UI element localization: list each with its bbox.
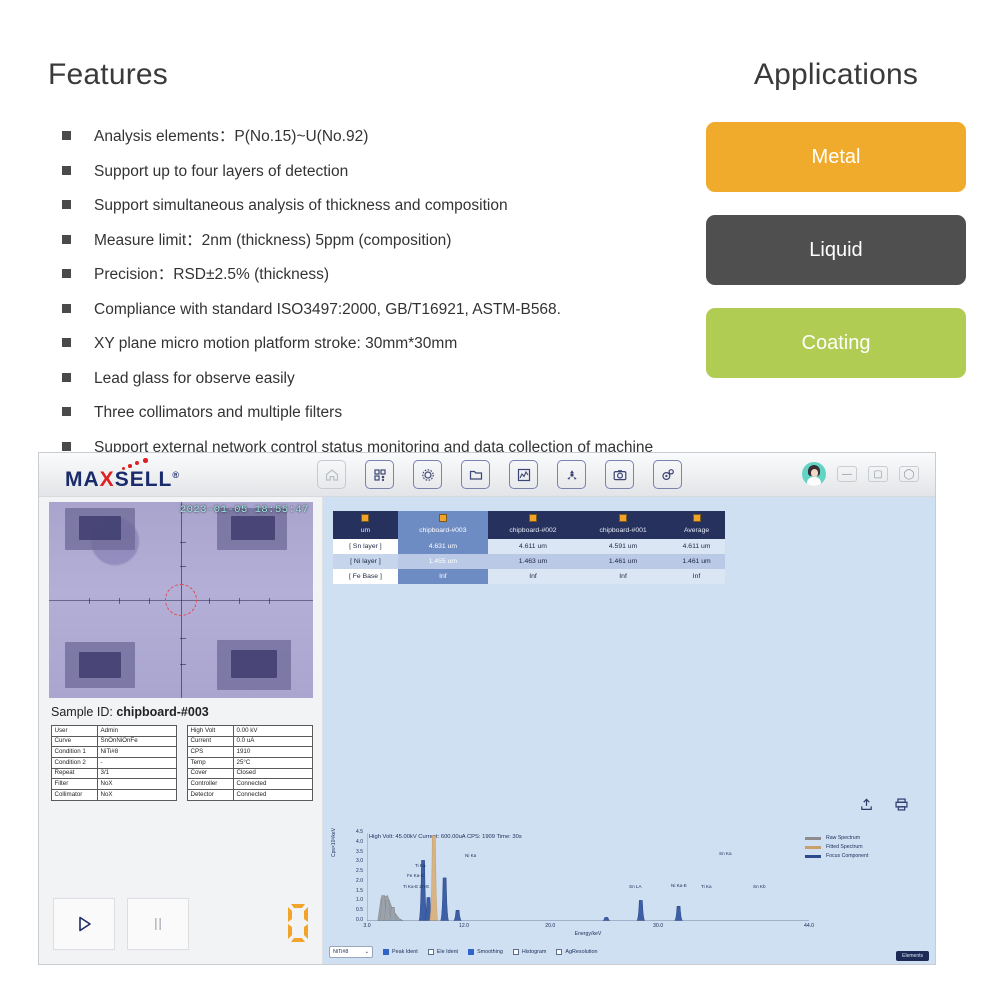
- bullet-icon: [62, 269, 71, 278]
- folder-icon[interactable]: [461, 460, 490, 489]
- legend-swatch: [805, 855, 821, 858]
- y-tick: 0.5: [356, 907, 363, 913]
- legend-swatch: [805, 837, 821, 840]
- home-icon[interactable]: [317, 460, 346, 489]
- cell: Inf: [488, 569, 578, 584]
- features-list: Analysis elements：P(No.15)~U(No.92) Supp…: [48, 126, 688, 459]
- feature-item: Measure limit：2nm (thickness) 5ppm (comp…: [48, 230, 688, 252]
- feature-item: Support up to four layers of detection: [48, 161, 688, 183]
- cell: 4.591 um: [578, 539, 668, 554]
- y-tick: 4.5: [356, 829, 363, 835]
- cell: Inf: [398, 569, 488, 584]
- sample-id-label: Sample ID:: [51, 705, 113, 719]
- x-tick: 44.0: [804, 923, 814, 929]
- table-row: Current0.0 uA: [188, 736, 313, 747]
- feature-text: Three collimators and multiple filters: [94, 404, 342, 421]
- cell: 4.611 um: [488, 539, 578, 554]
- feature-item: Compliance with standard ISO3497:2000, G…: [48, 299, 688, 321]
- peak-annotation: Ti Ka: [701, 884, 712, 889]
- spectrum-peak: [453, 910, 462, 921]
- checkbox-agresolution[interactable]: AgResolution: [556, 949, 597, 955]
- elements-button[interactable]: Elements: [896, 951, 929, 961]
- chart-icon[interactable]: [509, 460, 538, 489]
- table-header-row: um chipboard-#003 chipboard-#002 chipboa…: [333, 511, 725, 539]
- cycle-counter-display: [285, 902, 311, 944]
- table-row: UserAdmin: [52, 726, 177, 737]
- table-row: DetectorConnected: [188, 790, 313, 801]
- legend-item: Fitted Spectrum: [805, 844, 913, 850]
- app-toolbar: [317, 460, 682, 489]
- table-row: Temp25°C: [188, 758, 313, 769]
- checkbox-smoothing[interactable]: Smoothing: [468, 949, 503, 955]
- chart-y-ticks: 4.54.03.53.02.52.01.51.00.50.0: [341, 831, 363, 923]
- maxsell-logo: MAXSELL®: [65, 462, 180, 488]
- cell: 4.631 um: [398, 539, 488, 554]
- spectrum-peak: [440, 878, 449, 921]
- spectrum-peak: [429, 836, 438, 921]
- row-label: [ Ni layer ]: [333, 554, 398, 569]
- app-body: 2023-01-05 18:55:47 Sample ID: chipboard…: [39, 497, 935, 965]
- chevron-down-icon: ⌄: [364, 949, 369, 955]
- color-swatch-icon: [693, 514, 701, 522]
- chart-legend: Raw Spectrum Fitted Spectrum Focus Compo…: [805, 835, 913, 862]
- bullet-icon: [62, 442, 71, 451]
- x-tick: 12.0: [459, 923, 469, 929]
- application-tag-coating[interactable]: Coating: [706, 308, 966, 378]
- chart-xlabel: Energy/keV: [367, 931, 809, 937]
- close-button[interactable]: ◯: [899, 466, 919, 482]
- checkbox-histogram[interactable]: Histogram: [513, 949, 547, 955]
- bullet-icon: [62, 373, 71, 382]
- spectrum-peak: [636, 900, 645, 921]
- cell: Inf: [578, 569, 668, 584]
- chart-plot-area[interactable]: [367, 833, 809, 921]
- play-button[interactable]: [53, 898, 115, 950]
- row-label: [ Fe Base ]: [333, 569, 398, 584]
- features-title: Features: [48, 58, 688, 92]
- peak-annotation: Ti Ka: [415, 863, 426, 868]
- chart-options-bar: NiTi#8⌄ Peak Ident Ele Ident Smoothing H…: [329, 944, 929, 960]
- results-table-wrapper: um chipboard-#003 chipboard-#002 chipboa…: [333, 511, 725, 584]
- color-swatch-icon: [361, 514, 369, 522]
- feature-item: Precision：RSD±2.5% (thickness): [48, 264, 688, 286]
- peak-annotation: Sn LA: [629, 884, 642, 889]
- cell: 1.461 um: [668, 554, 725, 569]
- legend-item: Focus Component: [805, 853, 913, 859]
- peak-annotation: Ni Ka-E: [671, 883, 687, 888]
- feature-item: Support simultaneous analysis of thickne…: [48, 195, 688, 217]
- color-swatch-icon: [529, 514, 537, 522]
- y-tick: 2.5: [356, 868, 363, 874]
- y-tick: 3.0: [356, 858, 363, 864]
- parameter-tables: UserAdmin CurveSnOnNiOnFe Condition 1NiT…: [51, 725, 313, 801]
- cell: 1.455 um: [398, 554, 488, 569]
- y-tick: 4.0: [356, 839, 363, 845]
- table-row: FilterNoX: [52, 779, 177, 790]
- left-panel: 2023-01-05 18:55:47 Sample ID: chipboard…: [39, 497, 323, 965]
- legend-item: Raw Spectrum: [805, 835, 913, 841]
- x-tick: 20.0: [545, 923, 555, 929]
- software-screenshot-window: MAXSELL®: [38, 452, 936, 965]
- minimize-button[interactable]: —: [837, 466, 857, 482]
- bullet-icon: [62, 407, 71, 416]
- feature-text: Analysis elements：P(No.15)~U(No.92): [94, 128, 368, 145]
- camera-timestamp: 2023-01-05 18:55:47: [180, 504, 309, 516]
- sample-id-row: Sample ID: chipboard-#003: [51, 705, 209, 719]
- export-actions: [859, 797, 909, 817]
- sample-id-value: chipboard-#003: [116, 705, 208, 719]
- print-icon[interactable]: [894, 797, 909, 817]
- logo-dots-icon: [122, 458, 162, 472]
- cell: 1.463 um: [488, 554, 578, 569]
- feature-text: Support simultaneous analysis of thickne…: [94, 197, 508, 214]
- table-row: CPS1910: [188, 747, 313, 758]
- checkbox-ele-ident[interactable]: Ele Ident: [428, 949, 458, 955]
- feature-item: Lead glass for observe easily: [48, 368, 688, 390]
- y-tick: 1.0: [356, 897, 363, 903]
- feature-text: Compliance with standard ISO3497:2000, G…: [94, 301, 561, 318]
- table-row: Repeat3/1: [52, 768, 177, 779]
- spectrum-chart: High Volt: 45.00kV Current: 600.00uA CPS…: [329, 827, 929, 935]
- table-row: [ Sn layer ] 4.631 um 4.611 um 4.591 um …: [333, 539, 725, 554]
- camera-view[interactable]: 2023-01-05 18:55:47: [49, 502, 313, 698]
- color-swatch-icon: [619, 514, 627, 522]
- application-tag-liquid[interactable]: Liquid: [706, 215, 966, 285]
- peak-annotation: Sn Ka: [719, 851, 732, 856]
- condition-select[interactable]: NiTi#8⌄: [329, 946, 373, 958]
- feature-text: Precision：RSD±2.5% (thickness): [94, 266, 329, 283]
- results-col-sample-3[interactable]: chipboard-#001: [578, 511, 668, 539]
- bullet-icon: [62, 304, 71, 313]
- table-row: ControllerConnected: [188, 779, 313, 790]
- export-icon[interactable]: [859, 797, 874, 817]
- target-circle-icon: [165, 584, 197, 616]
- spectrum-svg: [367, 833, 809, 921]
- table-row: Condition 1NiTi#8: [52, 747, 177, 758]
- feature-text: Measure limit：2nm (thickness) 5ppm (comp…: [94, 232, 451, 249]
- y-tick: 3.5: [356, 849, 363, 855]
- camera-icon[interactable]: [605, 460, 634, 489]
- peak-annotation: Sn Kb: [753, 884, 766, 889]
- bullet-icon: [62, 338, 71, 347]
- config-icon[interactable]: [653, 460, 682, 489]
- bullet-icon: [62, 131, 71, 140]
- legend-swatch: [805, 846, 821, 849]
- table-row: [ Fe Base ] Inf Inf Inf Inf: [333, 569, 725, 584]
- feature-text: Lead glass for observe easily: [94, 370, 295, 387]
- table-row: Condition 2-: [52, 758, 177, 769]
- cell: 1.461 um: [578, 554, 668, 569]
- maximize-button[interactable]: ▢: [868, 466, 888, 482]
- feature-item: XY plane micro motion platform stroke: 3…: [48, 333, 688, 355]
- pause-button[interactable]: [127, 898, 189, 950]
- parameters-right-table: High Volt0.00 kV Current0.0 uA CPS1910 T…: [187, 725, 313, 801]
- table-row: CurveSnOnNiOnFe: [52, 736, 177, 747]
- results-col-average[interactable]: Average: [668, 511, 725, 539]
- gear-icon[interactable]: [413, 460, 442, 489]
- table-row: High Volt0.00 kV: [188, 726, 313, 737]
- cell: Inf: [668, 569, 725, 584]
- thickness-results-table: um chipboard-#003 chipboard-#002 chipboa…: [333, 511, 725, 584]
- feature-item: Three collimators and multiple filters: [48, 402, 688, 424]
- applications-column: Applications Metal Liquid Coating: [706, 58, 966, 401]
- y-tick: 1.5: [356, 888, 363, 894]
- applications-title: Applications: [706, 58, 966, 92]
- bullet-icon: [62, 235, 71, 244]
- bullet-icon: [62, 200, 71, 209]
- app-titlebar: MAXSELL®: [39, 453, 935, 497]
- x-tick: 30.0: [653, 923, 663, 929]
- peak-annotation: Fe Ka-C: [407, 873, 424, 878]
- x-tick: 3.0: [363, 923, 370, 929]
- results-col-sample-2[interactable]: chipboard-#002: [488, 511, 578, 539]
- table-row: CoverClosed: [188, 768, 313, 779]
- spectrum-peak: [602, 917, 611, 921]
- table-row: CollimatorNoX: [52, 790, 177, 801]
- window-right-controls: — ▢ ◯: [802, 462, 919, 486]
- avatar[interactable]: [802, 462, 826, 486]
- cell: 4.611 um: [668, 539, 725, 554]
- checkbox-peak-ident[interactable]: Peak Ident: [383, 949, 418, 955]
- y-tick: 2.0: [356, 878, 363, 884]
- application-tag-metal[interactable]: Metal: [706, 122, 966, 192]
- right-panel: um chipboard-#003 chipboard-#002 chipboa…: [323, 497, 935, 965]
- peak-annotation: Ni Ka: [465, 853, 476, 858]
- feature-text: Support up to four layers of detection: [94, 163, 348, 180]
- peak-annotation: Ti Ka-E Zn-E: [403, 884, 429, 889]
- parameters-left-table: UserAdmin CurveSnOnNiOnFe Condition 1NiT…: [51, 725, 177, 801]
- table-row: [ Ni layer ] 1.455 um 1.463 um 1.461 um …: [333, 554, 725, 569]
- marketing-top-section: Features Analysis elements：P(No.15)~U(No…: [0, 0, 1000, 455]
- spectrum-peak: [674, 906, 683, 921]
- bullet-icon: [62, 166, 71, 175]
- row-label: [ Sn layer ]: [333, 539, 398, 554]
- feature-item: Analysis elements：P(No.15)~U(No.92): [48, 126, 688, 148]
- grid-icon[interactable]: [365, 460, 394, 489]
- transport-controls: [53, 898, 189, 950]
- feature-text: XY plane micro motion platform stroke: 3…: [94, 335, 457, 352]
- results-col-sample-1[interactable]: chipboard-#003: [398, 511, 488, 539]
- features-column: Features Analysis elements：P(No.15)~U(No…: [48, 58, 688, 471]
- chart-ylabel: Cps×10³/keV: [331, 828, 337, 857]
- y-tick: 0.0: [356, 917, 363, 923]
- radiation-icon[interactable]: [557, 460, 586, 489]
- color-swatch-icon: [439, 514, 447, 522]
- results-col-unit: um: [333, 511, 398, 539]
